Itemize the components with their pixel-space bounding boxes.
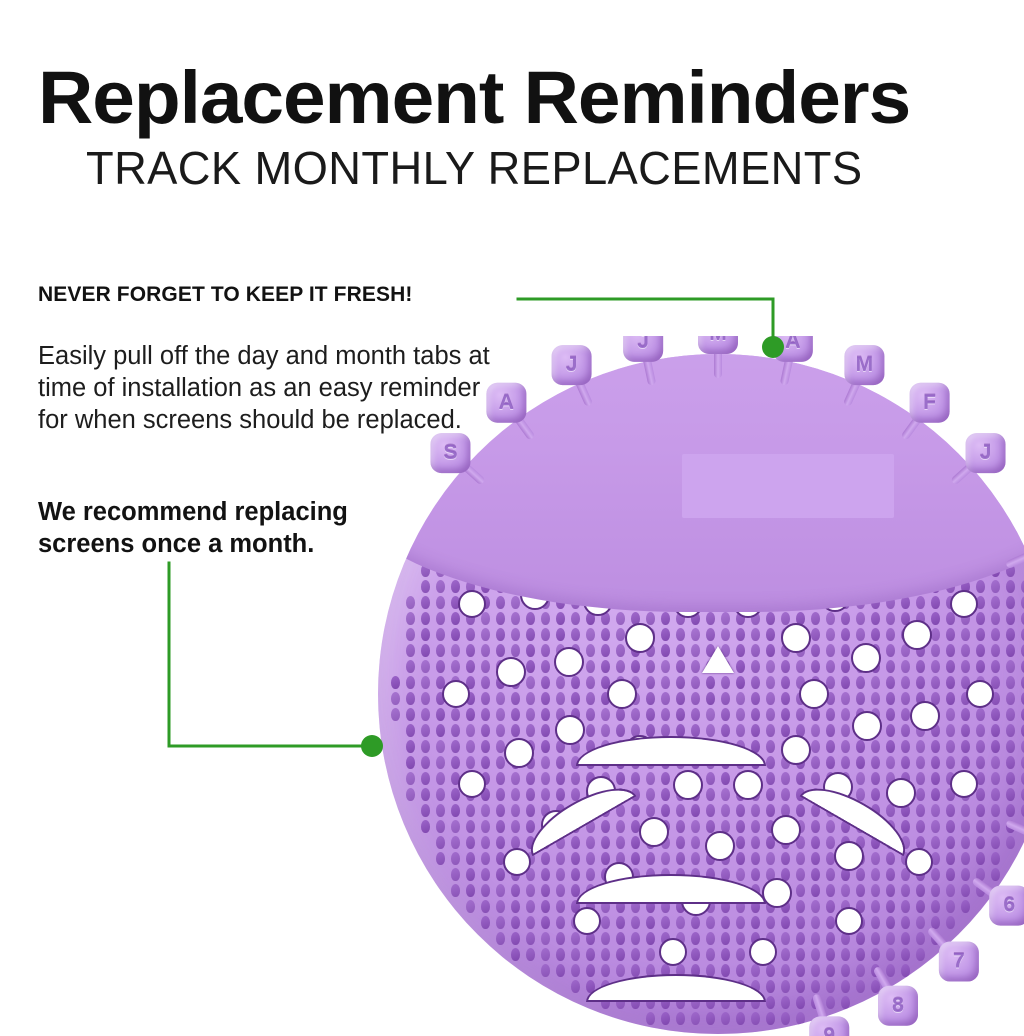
connector-line-bottom bbox=[169, 563, 361, 746]
page-title: Replacement Reminders bbox=[38, 58, 1024, 138]
pull-tab-head[interactable]: 9 bbox=[809, 1016, 849, 1036]
callout-paragraph: Easily pull off the day and month tabs a… bbox=[38, 340, 490, 436]
pull-tab-head[interactable]: F bbox=[910, 383, 950, 423]
pull-tab-head[interactable]: J bbox=[623, 336, 663, 362]
pull-tab-head[interactable]: 7 bbox=[939, 942, 979, 982]
pull-tab-head[interactable]: 6 bbox=[989, 886, 1024, 926]
pull-tab-head[interactable]: J bbox=[552, 345, 592, 385]
callout-bold-paragraph: We recommend replacing screens once a mo… bbox=[38, 496, 438, 560]
connector-line-top bbox=[518, 299, 773, 337]
pull-tab-head[interactable]: A bbox=[486, 383, 526, 423]
pull-tab-ring: JFMAMJJAS123456789 bbox=[378, 354, 1024, 1034]
pull-tab-head[interactable]: M bbox=[844, 345, 884, 385]
pull-tab-head[interactable]: A bbox=[773, 336, 813, 362]
pull-tab-stem bbox=[1005, 819, 1024, 839]
urinal-screen-product-image: PULL TABS FOR CHANGE DATE MONTH MONTH JF… bbox=[338, 336, 1024, 1036]
pull-tab-stem bbox=[1005, 550, 1024, 570]
pull-tab-head[interactable]: M bbox=[698, 336, 738, 354]
pull-tab-head[interactable]: S bbox=[430, 433, 470, 473]
callout-kicker: NEVER FORGET TO KEEP IT FRESH! bbox=[38, 283, 412, 307]
pull-tab-head[interactable]: 8 bbox=[878, 986, 918, 1026]
infographic-canvas: PULL TABS FOR CHANGE DATE MONTH MONTH JF… bbox=[0, 0, 1024, 960]
pull-tab-head[interactable]: J bbox=[966, 433, 1006, 473]
page-subtitle: TRACK MONTHLY REPLACEMENTS bbox=[86, 142, 973, 194]
